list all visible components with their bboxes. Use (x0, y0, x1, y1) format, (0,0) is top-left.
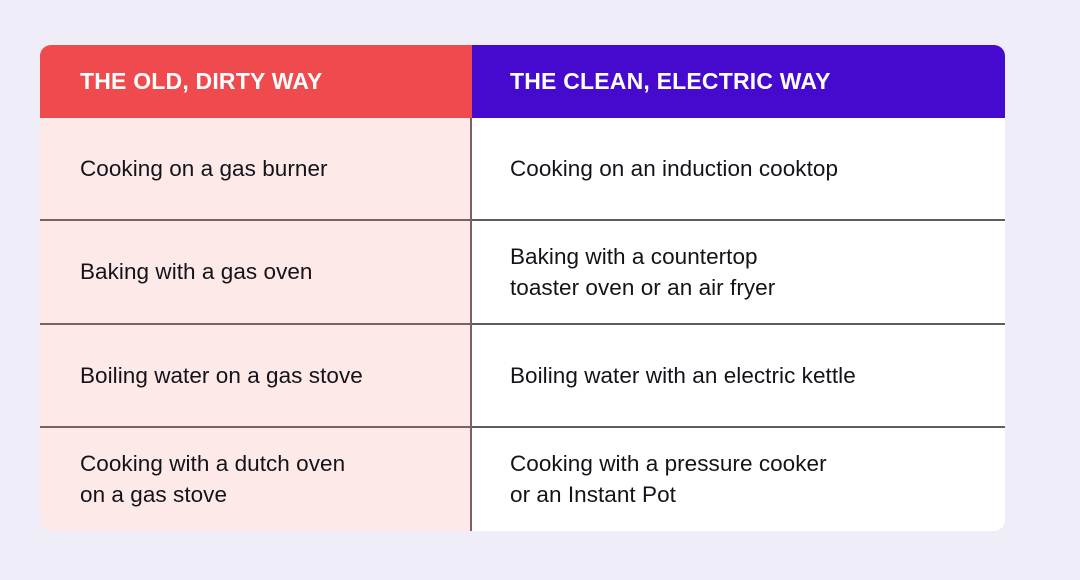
table-body: Cooking on a gas burner Cooking on an in… (40, 118, 1005, 531)
cell-old-way: Cooking with a dutch oven on a gas stove (40, 428, 472, 531)
cell-old-way-text: Baking with a gas oven (80, 256, 313, 287)
cell-old-way: Baking with a gas oven (40, 221, 472, 324)
cell-clean-way-text: Baking with a countertop toaster oven or… (510, 241, 775, 303)
cell-clean-way: Cooking with a pressure cooker or an Ins… (472, 428, 1005, 531)
comparison-table: The old, dirty way The clean, electric w… (40, 45, 1005, 531)
cell-old-way-text: Cooking on a gas burner (80, 153, 328, 184)
cell-clean-way-text: Boiling water with an electric kettle (510, 360, 856, 391)
table-row: Cooking with a dutch oven on a gas stove… (40, 428, 1005, 531)
page-root: The old, dirty way The clean, electric w… (0, 0, 1080, 580)
column-header-old-dirty-way: The old, dirty way (40, 45, 472, 118)
column-header-clean-electric-way: The clean, electric way (472, 45, 1005, 118)
cell-old-way: Boiling water on a gas stove (40, 325, 472, 428)
cell-clean-way-text: Cooking with a pressure cooker or an Ins… (510, 448, 827, 510)
cell-old-way: Cooking on a gas burner (40, 118, 472, 221)
table-row: Baking with a gas oven Baking with a cou… (40, 221, 1005, 324)
column-header-clean-label: The clean, electric way (510, 68, 831, 95)
cell-old-way-text: Boiling water on a gas stove (80, 360, 363, 391)
column-header-old-label: The old, dirty way (80, 68, 323, 95)
cell-clean-way: Cooking on an induction cooktop (472, 118, 1005, 221)
cell-clean-way: Baking with a countertop toaster oven or… (472, 221, 1005, 324)
cell-old-way-text: Cooking with a dutch oven on a gas stove (80, 448, 345, 510)
cell-clean-way-text: Cooking on an induction cooktop (510, 153, 838, 184)
table-header-row: The old, dirty way The clean, electric w… (40, 45, 1005, 118)
cell-clean-way: Boiling water with an electric kettle (472, 325, 1005, 428)
table-row: Cooking on a gas burner Cooking on an in… (40, 118, 1005, 221)
table-row: Boiling water on a gas stove Boiling wat… (40, 325, 1005, 428)
